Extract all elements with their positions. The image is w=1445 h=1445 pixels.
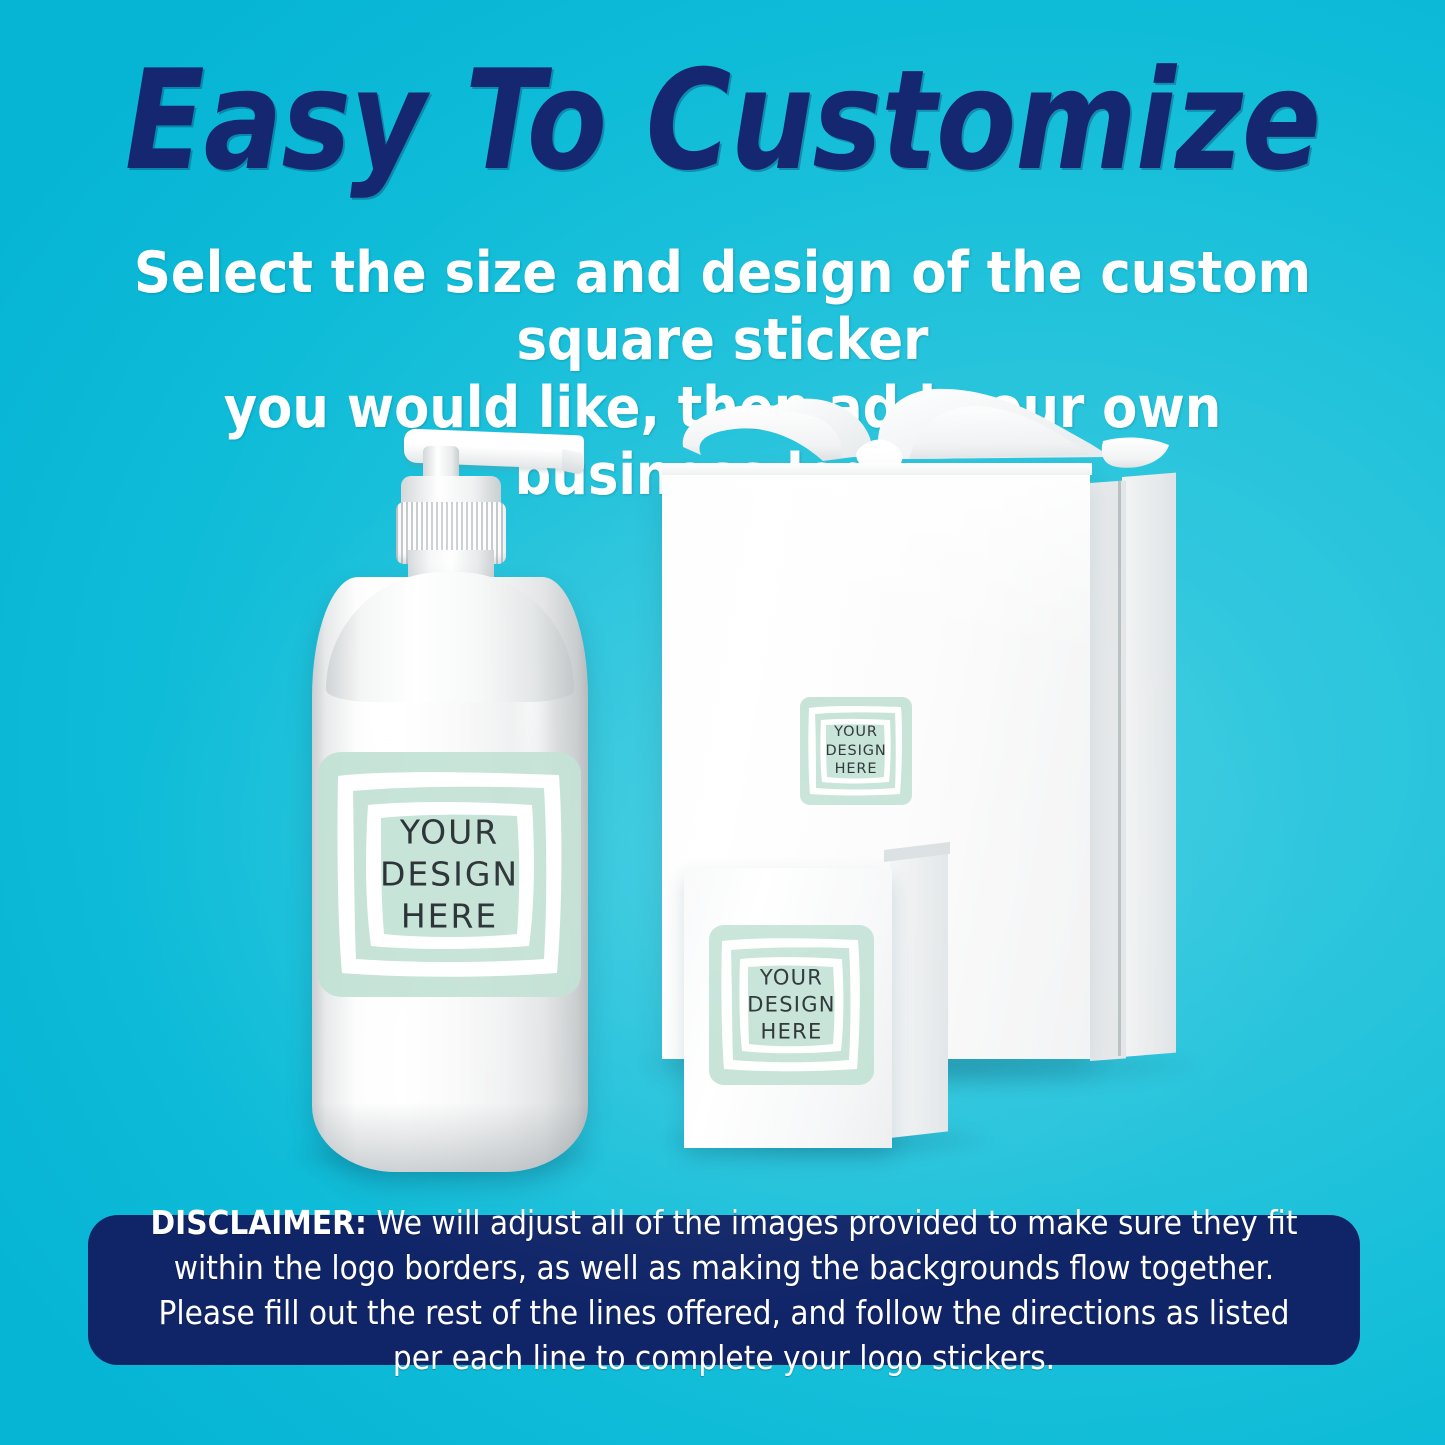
sticker-on-small-box[interactable]: YOUR DESIGN HERE xyxy=(709,925,874,1085)
sticker-text: YOUR DESIGN HERE xyxy=(318,811,581,938)
disclaimer-banner: DISCLAIMER: We will adjust all of the im… xyxy=(88,1215,1360,1365)
gift-box-seam xyxy=(1118,481,1121,1056)
sticker-on-gift-box[interactable]: YOUR DESIGN HERE xyxy=(800,697,912,805)
sticker-line-2: DESIGN xyxy=(800,742,912,761)
gift-box-lid-lip xyxy=(662,463,1092,475)
sticker-line-3: HERE xyxy=(709,1018,874,1045)
disclaimer-text: DISCLAIMER: We will adjust all of the im… xyxy=(134,1200,1314,1381)
promo-graphic-canvas: Easy To Customize Select the size and de… xyxy=(0,0,1445,1445)
disclaimer-label: DISCLAIMER: xyxy=(151,1203,367,1242)
sticker-text: YOUR DESIGN HERE xyxy=(709,965,874,1046)
gift-box-side-panel-outer xyxy=(1122,473,1176,1057)
sticker-line-2: DESIGN xyxy=(709,992,874,1019)
sticker-text: YOUR DESIGN HERE xyxy=(800,723,912,779)
pump-nozzle-tip xyxy=(562,449,584,476)
sticker-line-1: YOUR xyxy=(709,965,874,992)
sticker-line-2: DESIGN xyxy=(318,853,581,895)
sticker-on-bottle[interactable]: YOUR DESIGN HERE xyxy=(318,752,581,997)
sticker-line-1: YOUR xyxy=(800,723,912,742)
sticker-line-1: YOUR xyxy=(318,811,581,853)
subtitle-line-1: Select the size and design of the custom… xyxy=(108,240,1338,375)
page-title: Easy To Customize xyxy=(43,52,1401,190)
bottle-base-shading xyxy=(312,1102,588,1172)
small-box-side-panel xyxy=(890,847,948,1138)
sticker-line-3: HERE xyxy=(318,896,581,938)
sticker-line-3: HERE xyxy=(800,760,912,779)
